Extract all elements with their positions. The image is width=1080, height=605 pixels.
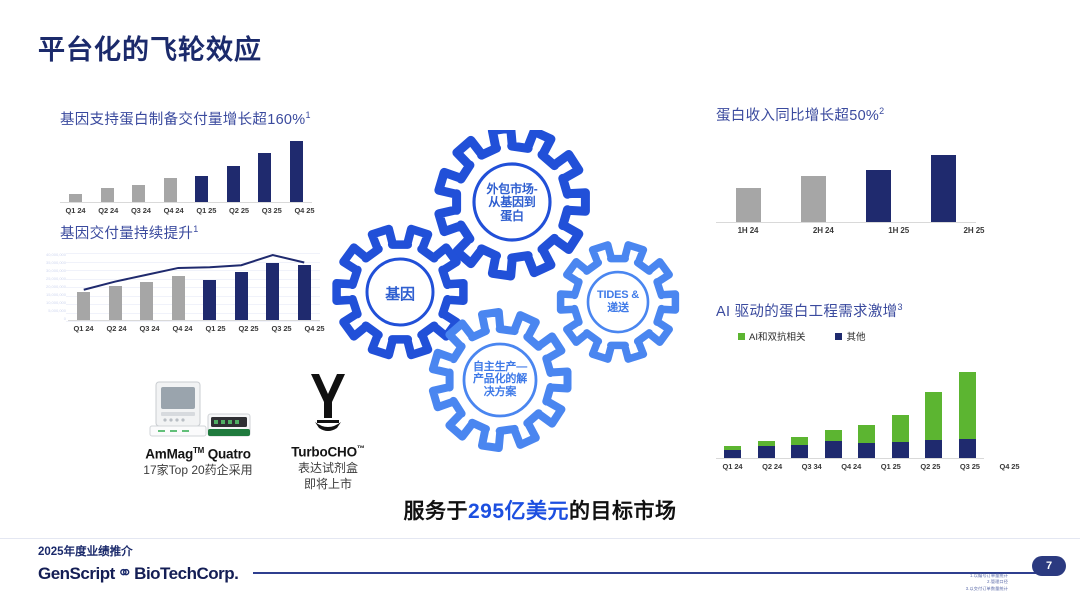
chart-title: 基因支持蛋白制备交付量增长超160%1 xyxy=(60,108,320,129)
bar-column xyxy=(186,141,217,203)
y-axis-tick: 15,000,000 xyxy=(42,293,66,297)
trend-polyline xyxy=(84,255,305,290)
bar-segment-other xyxy=(959,439,976,459)
category-label: Q1 24 xyxy=(60,206,91,215)
footnotes: 1.以编号订单量统计2.管理口径3.以交付订单数量统计 xyxy=(966,573,1008,592)
legend-item: 其他 xyxy=(835,329,865,343)
category-label: Q1 25 xyxy=(200,324,231,333)
chart-gene-delivery: 基因交付量持续提升1 40,000,00035,000,00030,000,00… xyxy=(60,222,330,333)
plot-area xyxy=(716,369,984,459)
chart-legend: AI和双抗相关其他 xyxy=(738,329,1026,343)
bar-segment-other xyxy=(825,441,842,459)
chart-protein-revenue: 蛋白收入同比增长超50%2 1H 242H 241H 252H 25 xyxy=(716,104,1006,235)
y-axis-tick: 30,000,000 xyxy=(42,269,66,273)
bar xyxy=(132,185,145,203)
chart-title: 蛋白收入同比增长超50%2 xyxy=(716,104,1006,125)
chart-title-superscript: 2 xyxy=(879,106,884,116)
bar-segment-ai xyxy=(925,392,942,440)
chart-title-text: 基因交付量持续提升 xyxy=(60,226,193,242)
bar-group xyxy=(716,369,984,459)
product-name: TurboCHO™ xyxy=(258,444,398,460)
legend-swatch xyxy=(835,333,842,340)
axis-line xyxy=(716,222,976,223)
product-name-main: TurboCHO xyxy=(291,445,357,460)
chart-title-text: 蛋白收入同比增长超50% xyxy=(716,108,879,124)
legend-swatch xyxy=(738,333,745,340)
y-axis-labels: 40,000,00035,000,00030,000,00025,000,000… xyxy=(42,253,66,321)
gear-label-right: TIDES &递送 xyxy=(563,289,673,314)
category-label: Q4 25 xyxy=(289,206,320,215)
bar-group xyxy=(60,141,312,203)
category-label: Q3 25 xyxy=(266,324,297,333)
bar xyxy=(736,188,761,223)
plot-area xyxy=(60,141,312,203)
y-axis-tick: 25,000,000 xyxy=(42,277,66,281)
gear-label-bottom: 自主生产—产品化的解决方案 xyxy=(445,361,555,399)
category-label: 1H 25 xyxy=(867,226,931,235)
chart-title: 基因交付量持续提升1 xyxy=(60,222,330,243)
chart-title: AI 驱动的蛋白工程需求激增3 xyxy=(716,300,1026,321)
target-market-prefix: 服务于 xyxy=(403,500,468,523)
footer-kicker: 2025年度业绩推介 xyxy=(38,543,133,559)
gear-label-line: 蛋白 xyxy=(457,210,567,224)
bar-column xyxy=(912,147,976,223)
footnote-line: 3.以交付订单数量统计 xyxy=(966,586,1008,592)
chart-title-text: AI 驱动的蛋白工程需求激增 xyxy=(716,304,897,320)
bar-column xyxy=(850,369,883,459)
legend-item: AI和双抗相关 xyxy=(738,329,805,343)
chart-gene-protein: 基因支持蛋白制备交付量增长超160%1 Q1 24Q2 24Q3 24Q4 24… xyxy=(60,108,320,215)
bar xyxy=(931,155,956,223)
bar xyxy=(866,170,891,223)
brand-logo-right: BioTechCorp. xyxy=(134,564,238,584)
bar-column xyxy=(951,369,984,459)
category-label: Q4 25 xyxy=(299,324,330,333)
bar-segment-other xyxy=(858,443,875,459)
plot-area xyxy=(716,147,976,223)
category-label: Q2 25 xyxy=(914,462,947,471)
bar-segment-other xyxy=(892,442,909,459)
category-label: Q4 24 xyxy=(167,324,198,333)
y-axis-tick: 40,000,000 xyxy=(42,253,66,257)
brand-logo-left: GenScript xyxy=(38,564,115,584)
product-name-tail: Quatro xyxy=(204,447,251,462)
y-axis-tick: 10,000,000 xyxy=(42,301,66,305)
bar-column xyxy=(817,369,850,459)
axis-line xyxy=(68,320,320,321)
category-label: 2H 25 xyxy=(942,226,1006,235)
bar-column xyxy=(60,141,91,203)
brand-logo-rule xyxy=(253,572,1048,574)
y-axis-tick: 35,000,000 xyxy=(42,261,66,265)
antibody-icon xyxy=(293,368,363,438)
target-market-suffix: 的目标市场 xyxy=(569,500,677,523)
category-label: Q1 24 xyxy=(68,324,99,333)
gear-label-left: 基因 xyxy=(345,286,455,303)
axis-line xyxy=(60,202,312,203)
gridline xyxy=(66,321,320,322)
category-label: Q1 25 xyxy=(191,206,222,215)
bar-column xyxy=(783,369,816,459)
axis-line xyxy=(716,458,984,459)
trend-line xyxy=(68,253,320,321)
category-labels: 1H 242H 241H 252H 25 xyxy=(716,226,1006,235)
product-subtitle: 表达试剂盒即将上市 xyxy=(258,460,398,492)
chart-ai-demand: AI 驱动的蛋白工程需求激增3 AI和双抗相关其他 Q1 24Q2 24Q3 3… xyxy=(716,300,1026,471)
bar-column xyxy=(917,369,950,459)
bar-column xyxy=(218,141,249,203)
product-name-main: AmMag xyxy=(145,447,193,462)
category-labels: Q1 24Q2 24Q3 34Q4 24Q1 25Q2 25Q3 25Q4 25 xyxy=(716,462,1026,471)
category-label: Q2 24 xyxy=(756,462,789,471)
legend-label: 其他 xyxy=(846,329,865,343)
bar-column xyxy=(123,141,154,203)
target-market-value: 295亿美元 xyxy=(468,500,569,523)
product-turbocho: TurboCHO™ 表达试剂盒即将上市 xyxy=(258,368,398,492)
bar xyxy=(227,166,240,203)
plot-area: 40,000,00035,000,00030,000,00025,000,000… xyxy=(68,253,320,321)
bar xyxy=(801,176,826,223)
bar-column xyxy=(847,147,911,223)
category-labels: Q1 24Q2 24Q3 24Q4 24Q1 25Q2 25Q3 25Q4 25 xyxy=(60,206,320,215)
category-label: Q3 25 xyxy=(953,462,986,471)
category-label: Q4 24 xyxy=(835,462,868,471)
category-label: 1H 24 xyxy=(716,226,780,235)
chart-title-text: 基因支持蛋白制备交付量增长超160% xyxy=(60,112,305,128)
product-subtitle-line: 即将上市 xyxy=(258,476,398,492)
gear-label-top: 外包市场-从基因到蛋白 xyxy=(457,183,567,224)
footer-divider xyxy=(0,538,1080,539)
category-label: Q1 24 xyxy=(716,462,749,471)
page-number-badge: 7 xyxy=(1032,556,1066,576)
category-label: Q3 24 xyxy=(125,206,156,215)
bar xyxy=(101,188,114,204)
product-name-trademark: ™ xyxy=(357,444,365,453)
category-label: Q3 34 xyxy=(795,462,828,471)
category-label: Q2 24 xyxy=(101,324,132,333)
product-name-trademark: TM xyxy=(193,446,204,455)
slide: 平台化的飞轮效应 基因支持蛋白制备交付量增长超160%1 Q1 24Q2 24Q… xyxy=(0,0,1080,605)
bar-segment-ai xyxy=(858,425,875,443)
category-label: 2H 24 xyxy=(791,226,855,235)
bar-column xyxy=(249,141,280,203)
product-subtitle-line: 表达试剂盒 xyxy=(258,460,398,476)
bar-column xyxy=(155,141,186,203)
bar-column xyxy=(884,369,917,459)
bar xyxy=(290,141,303,203)
page-title: 平台化的飞轮效应 xyxy=(38,28,262,67)
droplet-icon: ⚭ xyxy=(117,562,132,585)
category-label: Q4 25 xyxy=(993,462,1026,471)
category-label: Q2 25 xyxy=(233,324,264,333)
bar-column xyxy=(92,141,123,203)
bar xyxy=(164,178,177,203)
category-label: Q3 24 xyxy=(134,324,165,333)
bar-segment-ai xyxy=(791,437,808,444)
bar xyxy=(195,176,208,203)
bar-segment-other xyxy=(791,445,808,459)
category-label: Q3 25 xyxy=(256,206,287,215)
bar-segment-ai xyxy=(959,372,976,440)
category-label: Q2 25 xyxy=(224,206,255,215)
gear-label-line: 基因 xyxy=(345,286,455,303)
bar-segment-ai xyxy=(892,415,909,442)
category-label: Q1 25 xyxy=(874,462,907,471)
chart-title-superscript: 3 xyxy=(897,302,902,312)
bar-segment-ai xyxy=(825,430,842,441)
gear-label-line: 递送 xyxy=(563,302,673,315)
y-axis-tick: 0 xyxy=(42,317,66,321)
bar-column xyxy=(281,141,312,203)
category-label: Q4 24 xyxy=(158,206,189,215)
gear-label-line: 自主生产— xyxy=(445,361,555,374)
gear-label-line: 决方案 xyxy=(445,386,555,399)
y-axis-tick: 5,000,000 xyxy=(42,309,66,313)
bar-column xyxy=(716,147,780,223)
bar-column xyxy=(781,147,845,223)
brand-logo: GenScript ⚭ BioTechCorp. xyxy=(38,562,238,585)
bar-segment-other xyxy=(925,440,942,459)
y-axis-tick: 20,000,000 xyxy=(42,285,66,289)
bar xyxy=(258,153,271,203)
legend-label: AI和双抗相关 xyxy=(749,329,805,343)
bar-column xyxy=(716,369,749,459)
ammag-instrument-icon xyxy=(138,378,258,440)
bar-group xyxy=(716,147,976,223)
target-market-statement: 服务于295亿美元的目标市场 xyxy=(0,495,1080,525)
category-labels: Q1 24Q2 24Q3 24Q4 24Q1 25Q2 25Q3 25Q4 25 xyxy=(68,324,330,333)
bar-column xyxy=(750,369,783,459)
gear-label-line: 产品化的解 xyxy=(445,373,555,386)
gear-label-line: TIDES & xyxy=(563,289,673,302)
chart-title-superscript: 1 xyxy=(305,110,310,120)
category-label: Q2 24 xyxy=(93,206,124,215)
chart-title-superscript: 1 xyxy=(193,224,198,234)
